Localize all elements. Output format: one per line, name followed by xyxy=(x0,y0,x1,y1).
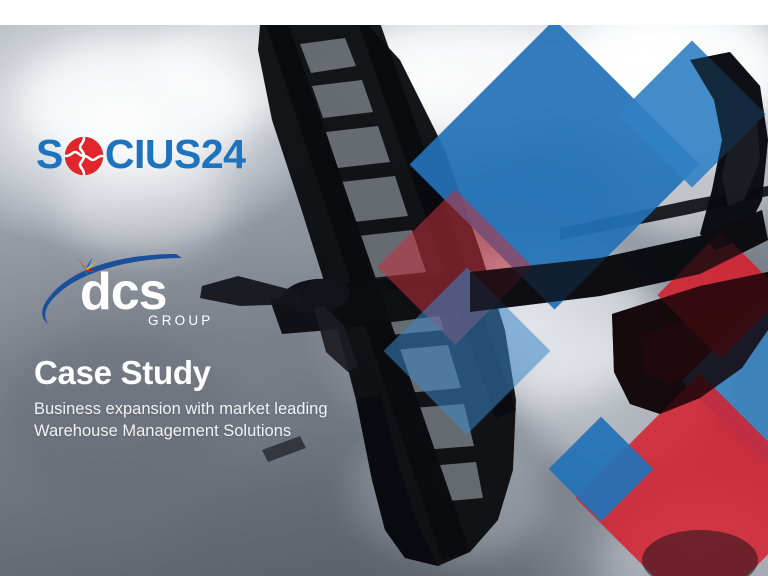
case-study-slide: S CIUS24 xyxy=(0,0,768,576)
dcs-descriptor: GROUP xyxy=(148,314,214,328)
dcs-wordmark: dcs xyxy=(80,266,167,318)
top-white-margin xyxy=(0,0,768,25)
page-subtitle: Business expansion with market leading W… xyxy=(34,399,328,443)
page-title: Case Study xyxy=(34,356,211,389)
subtitle-line-2: Warehouse Management Solutions xyxy=(34,421,328,443)
socius24-logo: S CIUS24 xyxy=(36,134,245,175)
socius-logo-text-after: CIUS24 xyxy=(105,134,246,175)
dcs-group-logo: dcs GROUP xyxy=(36,252,236,334)
puzzle-circle-icon xyxy=(64,136,104,176)
socius-logo-text-before: S xyxy=(36,134,63,175)
subtitle-line-1: Business expansion with market leading xyxy=(34,399,328,421)
